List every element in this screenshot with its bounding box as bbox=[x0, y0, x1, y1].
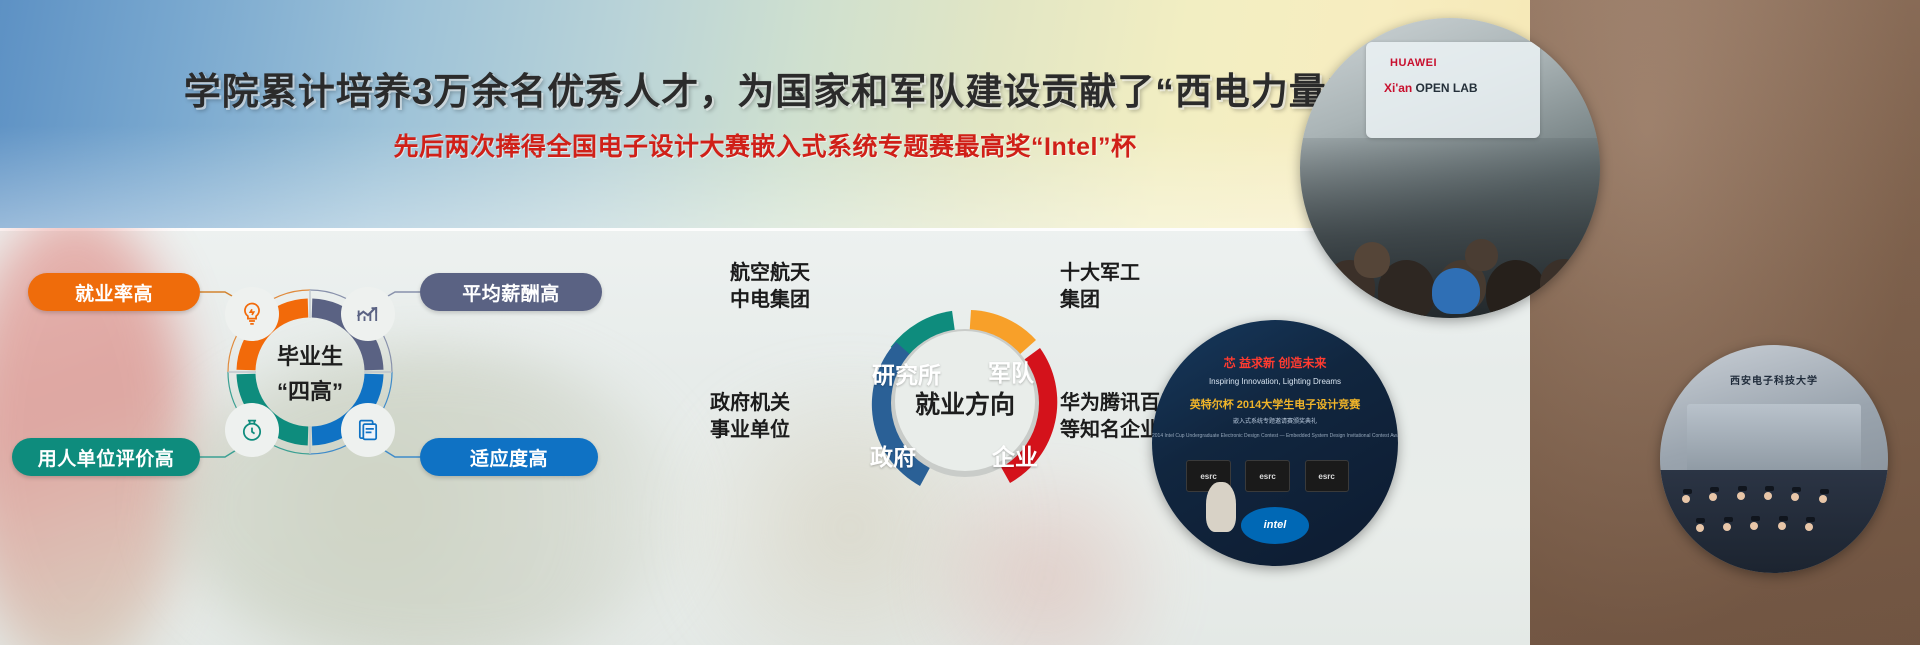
segment-label-research-institute: 研究所 bbox=[872, 356, 941, 390]
photo-huawei-open-lab: HUAWEI Xi'an OPEN LAB bbox=[1300, 18, 1600, 318]
campus-building bbox=[1687, 404, 1860, 472]
university-name-text: 西安电子科技大学 bbox=[1660, 372, 1888, 387]
stage-contest-subtitle: 嵌入式系统专题邀请赛颁奖典礼 bbox=[1152, 416, 1398, 425]
badge-adaptability[interactable]: 适应度高 bbox=[420, 438, 598, 476]
stage-contest-en-detail: 2014 Intel Cup Undergraduate Electronic … bbox=[1152, 433, 1398, 439]
huawei-logo-text: HUAWEI bbox=[1390, 57, 1437, 69]
stopwatch-icon bbox=[225, 403, 279, 457]
badge-average-salary[interactable]: 平均薪酬高 bbox=[420, 273, 602, 311]
booth-sign-center: esrc bbox=[1245, 460, 1289, 492]
segment-label-enterprise: 企业 bbox=[992, 438, 1038, 472]
four-highs-donut: 毕业生 “四高” bbox=[220, 282, 400, 462]
badge-label: 用人单位评价高 bbox=[38, 444, 175, 471]
badge-label: 平均薪酬高 bbox=[462, 279, 560, 306]
outer-label-research-institute: 航空航天 中电集团 bbox=[680, 260, 860, 314]
photo-graduation-group: 西安电子科技大学 bbox=[1660, 345, 1888, 573]
page-title: 学院累计培养3万余名优秀人才，为国家和军队建设贡献了“西电力量” bbox=[184, 71, 1347, 114]
photo-intel-cup-ceremony: 芯 益求新 创造未来 Inspiring Innovation, Lightin… bbox=[1152, 320, 1398, 566]
employment-direction-donut: 就业方向 研究所 军队 企业 政府 bbox=[860, 298, 1070, 508]
segment-label-government: 政府 bbox=[870, 438, 916, 472]
stage-headline-en: Inspiring Innovation, Lighting Dreams bbox=[1152, 377, 1398, 386]
stage-contest-title: 英特尔杯 2014大学生电子设计竞赛 bbox=[1152, 396, 1398, 412]
badge-label: 就业率高 bbox=[75, 279, 153, 306]
document-icon bbox=[341, 403, 395, 457]
graduates-rows bbox=[1660, 470, 1888, 573]
badge-label: 适应度高 bbox=[470, 444, 548, 471]
lab-sign-text: Xi'an OPEN LAB bbox=[1384, 81, 1478, 95]
lightbulb-icon bbox=[225, 287, 279, 341]
crowd-overlay bbox=[1300, 138, 1600, 318]
slide-root: 学院累计培养3万余名优秀人才，为国家和军队建设贡献了“西电力量” 先后两次捧得全… bbox=[0, 0, 1920, 645]
intel-logo: intel bbox=[1241, 507, 1310, 544]
chart-up-icon bbox=[341, 287, 395, 341]
segment-label-military: 军队 bbox=[988, 354, 1034, 388]
badge-employer-rating[interactable]: 用人单位评价高 bbox=[12, 438, 200, 476]
booth-sign-right: esrc bbox=[1305, 460, 1349, 492]
badge-employment-rate[interactable]: 就业率高 bbox=[28, 273, 200, 311]
page-subtitle: 先后两次捧得全国电子设计大赛嵌入式系统专题赛最高奖“Intel”杯 bbox=[394, 127, 1137, 163]
employment-direction-infographic: 就业方向 研究所 军队 企业 政府 航空航天 中电集团 十大军工 集团 华为腾讯… bbox=[730, 250, 1190, 490]
stage-headline-cn: 芯 益求新 创造未来 bbox=[1152, 354, 1398, 371]
outer-label-military: 十大军工 集团 bbox=[1060, 260, 1240, 314]
outer-label-government: 政府机关 事业单位 bbox=[660, 390, 840, 444]
graduate-four-highs-infographic: 毕业生 “四高” 就业率高 平均薪酬高 用人单位评价高 适应度高 bbox=[10, 252, 610, 492]
